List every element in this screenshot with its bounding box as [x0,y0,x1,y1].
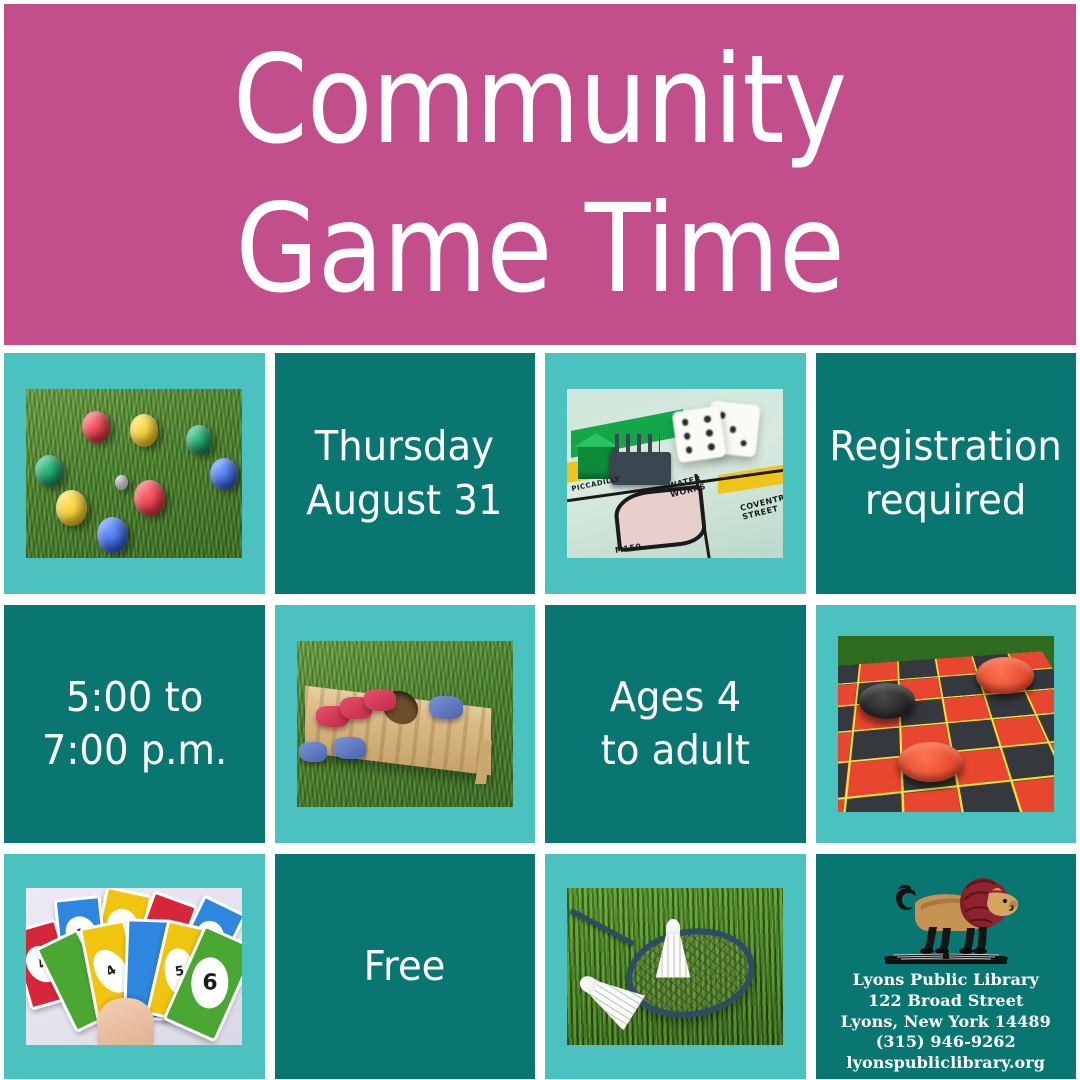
checker-red-top [976,657,1034,694]
jack-ball-white [115,475,128,490]
bocce-ball-yellow-left [56,490,86,525]
checker-black [859,683,915,718]
die-front [672,406,726,463]
grid-cell-registration: Registration required [816,353,1077,594]
poster-title-line-1: Community [233,26,846,175]
event-time-text: 5:00 to 7:00 p.m. [36,671,233,778]
ages-text: Ages 4 to adult [595,671,756,778]
grid-cell-monopoly-photo: PICCADILLY WATER WORKS COVENTRY STREET M… [545,353,806,594]
library-website: lyonspubliclibrary.org [841,1053,1051,1074]
beanbag-blue-1 [429,696,464,719]
grid-cell-library-logo: Lyons Public Library 122 Broad Street Ly… [816,854,1077,1079]
green-house-token [578,445,615,479]
poster-title-line-2: Game Time [236,175,845,324]
library-street: 122 Broad Street [841,991,1051,1012]
badminton-racket-and-shuttlecocks-photo [567,888,783,1046]
library-city: Lyons, New York 14489 [841,1012,1051,1033]
uno-cards-in-hand-photo: 4 8 2 0 4 5 6 [26,888,242,1046]
grid-cell-time: 5:00 to 7:00 p.m. [4,605,265,843]
header-banner: Community Game Time [4,4,1076,345]
price-text: Free [358,940,451,993]
lion-standing-on-open-book-icon [871,865,1021,965]
grid-cell-badminton-photo [545,854,806,1079]
shuttlecock-cork [666,919,680,936]
bocce-ball-green-right [186,425,212,455]
library-logo-block: Lyons Public Library 122 Broad Street Ly… [816,854,1077,1079]
grid-cell-cards-photo: 4 8 2 0 4 5 6 [4,854,265,1079]
grid-cell-bocce-photo [4,353,265,594]
checker-red-bottom [898,742,963,783]
grid-cell-date: Thursday August 31 [275,353,536,594]
registration-text: Registration required [824,420,1068,527]
grid-cell-checkers-photo [816,605,1077,843]
bocce-ball-blue-bottom [97,517,127,552]
bocce-ball-yellow [130,414,158,446]
shuttlecock-on-racket [656,919,691,977]
card-value: 6 [191,957,230,1009]
grid-cell-cornhole-photo [275,605,536,843]
bocce-ball-green-left [35,455,63,487]
event-date-text: Thursday August 31 [301,420,508,527]
beanbag-blue-2 [333,737,365,759]
bocce-ball-red-center [134,480,164,515]
shuttlecock-feathers [656,934,691,977]
info-grid: Thursday August 31 [4,353,1076,1079]
grid-cell-ages: Ages 4 to adult [545,605,806,843]
library-address-block: Lyons Public Library 122 Broad Street Ly… [841,970,1051,1074]
monopoly-board-with-dice-photo: PICCADILLY WATER WORKS COVENTRY STREET M… [567,389,783,558]
library-name: Lyons Public Library [841,970,1051,991]
poster-canvas: Community Game Time Thursday August 31 [0,0,1080,1080]
grid-cell-price: Free [275,854,536,1079]
beanbag-red-3 [364,689,396,711]
checkers-board-with-pieces-photo [838,636,1054,812]
hand-holding-cards [97,998,153,1045]
cornhole-board-with-beanbags-photo [297,641,513,808]
beanbag-blue-3 [299,742,327,762]
library-phone: (315) 946-9262 [841,1032,1051,1053]
bocce-balls-on-grass-photo [26,389,242,558]
